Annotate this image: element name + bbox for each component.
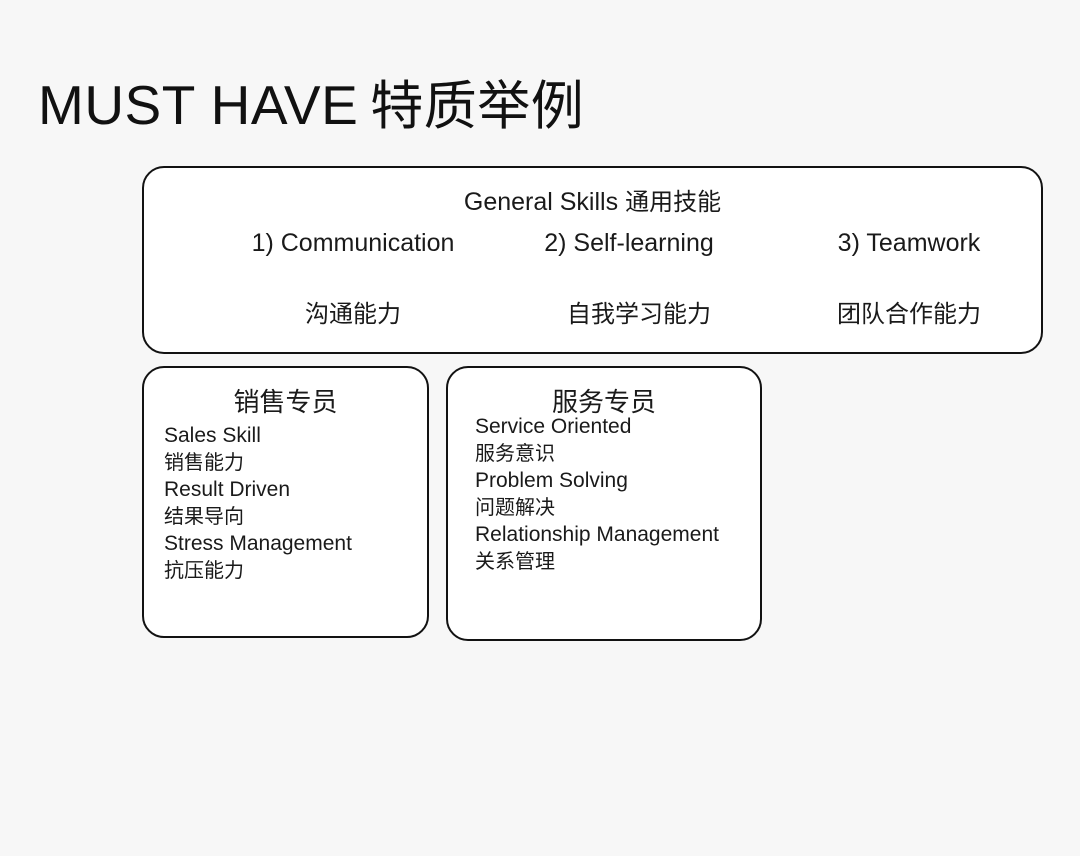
general-skill-item-2-label: 2) Self-learning bbox=[474, 230, 784, 258]
general-skill-item-3-label: 3) Teamwork bbox=[759, 230, 1059, 258]
list-item: 问题解决 bbox=[475, 494, 752, 521]
slide-canvas: MUST HAVE特质举例 General Skills通用技能 1) Comm… bbox=[0, 0, 1080, 856]
list-item: 关系管理 bbox=[475, 548, 752, 575]
list-item: Problem Solving bbox=[475, 467, 752, 494]
service-role-card: 服务专员 Service Oriented 服务意识 Problem Solvi… bbox=[446, 366, 762, 641]
general-skill-item-1-chinese: 沟通能力 bbox=[169, 294, 537, 329]
list-item: 销售能力 bbox=[164, 449, 419, 476]
sales-role-heading: 销售专员 bbox=[144, 382, 427, 419]
general-skill-item-2: 2) Self-learning bbox=[474, 230, 784, 258]
general-skill-item-3: 3) Teamwork bbox=[759, 230, 1059, 258]
list-item: Service Oriented bbox=[475, 413, 752, 440]
service-role-list: Service Oriented 服务意识 Problem Solving 问题… bbox=[475, 413, 752, 575]
general-skill-item-3-chinese: 团队合作能力 bbox=[744, 294, 1074, 329]
page-title-chinese: 特质举例 bbox=[358, 76, 584, 137]
list-item: Stress Management bbox=[164, 530, 419, 557]
list-item: Relationship Management bbox=[475, 521, 752, 548]
page-title-english: MUST HAVE bbox=[38, 74, 358, 136]
page-title: MUST HAVE特质举例 bbox=[38, 78, 584, 133]
list-item: Sales Skill bbox=[164, 422, 419, 449]
list-item: 结果导向 bbox=[164, 503, 419, 530]
general-skills-card: General Skills通用技能 1) Communication 2) S… bbox=[142, 166, 1043, 354]
general-skills-heading-chinese: 通用技能 bbox=[618, 188, 721, 216]
sales-role-card: 销售专员 Sales Skill 销售能力 Result Driven 结果导向… bbox=[142, 366, 429, 638]
list-item: 服务意识 bbox=[475, 440, 752, 467]
sales-role-list: Sales Skill 销售能力 Result Driven 结果导向 Stre… bbox=[164, 422, 419, 584]
list-item: Result Driven bbox=[164, 476, 419, 503]
general-skills-heading-english: General Skills bbox=[464, 188, 618, 216]
general-skills-heading: General Skills通用技能 bbox=[144, 182, 1041, 217]
list-item: 抗压能力 bbox=[164, 557, 419, 584]
